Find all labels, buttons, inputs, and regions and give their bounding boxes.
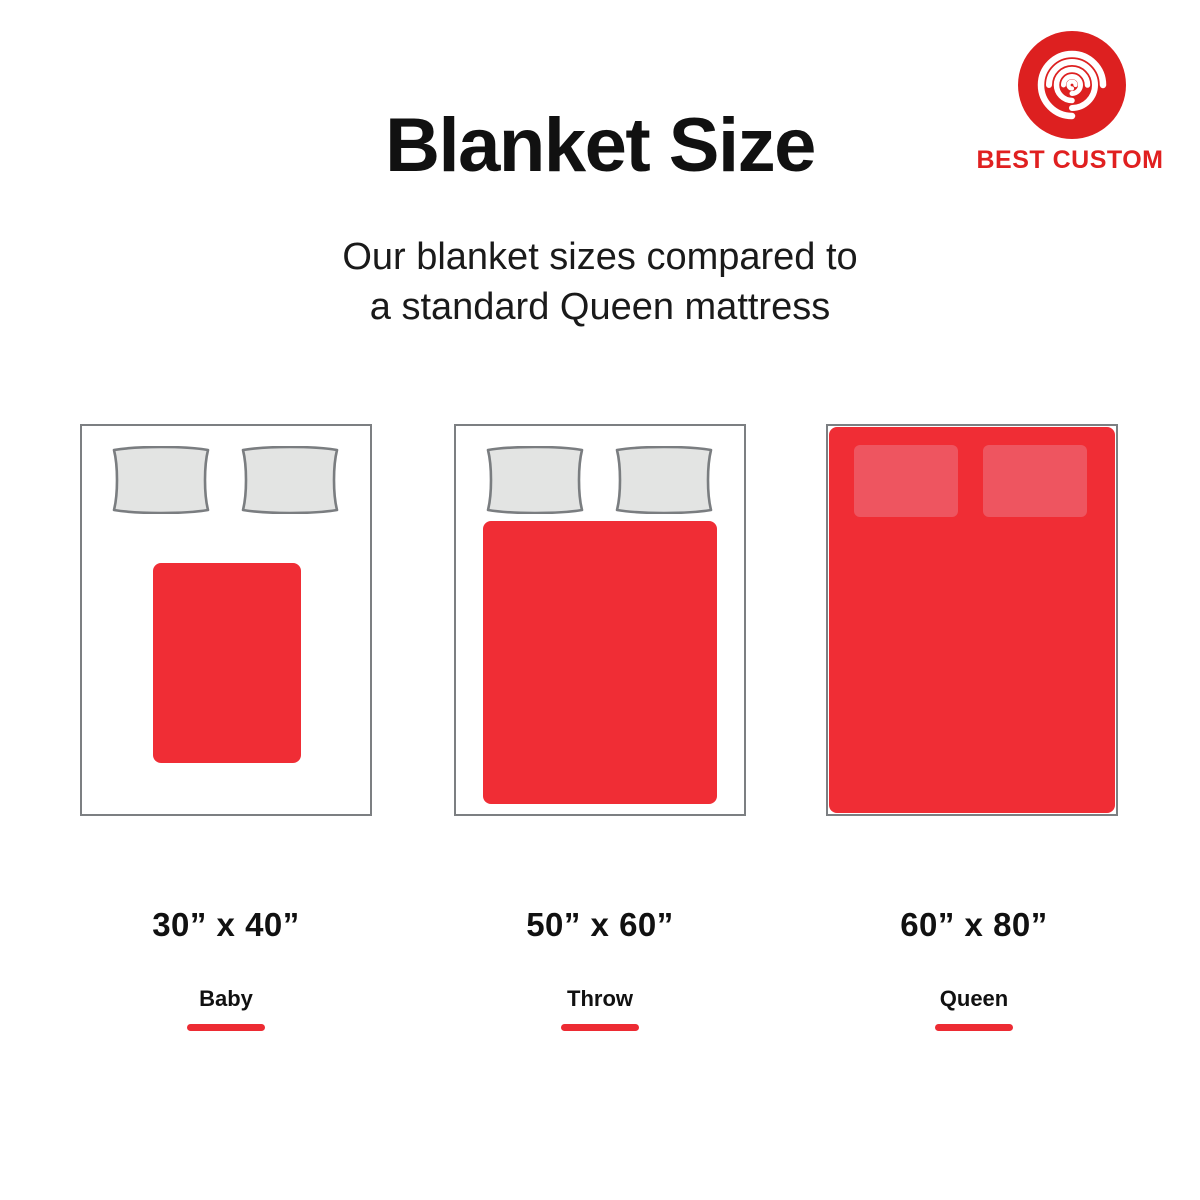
pillow-left bbox=[482, 446, 588, 514]
blanket-queen bbox=[829, 427, 1115, 813]
bed-diagram-baby bbox=[80, 424, 372, 816]
size-dimensions: 50” x 60” bbox=[450, 906, 750, 944]
size-name: Queen bbox=[824, 986, 1124, 1012]
accent-rule bbox=[935, 1024, 1013, 1031]
pillow-left bbox=[108, 446, 214, 514]
pillow-right bbox=[983, 445, 1087, 517]
caption-baby: 30” x 40” Baby bbox=[76, 906, 376, 1031]
pillow-right bbox=[611, 446, 717, 514]
size-dimensions: 30” x 40” bbox=[76, 906, 376, 944]
accent-rule bbox=[561, 1024, 639, 1031]
caption-queen: 60” x 80” Queen bbox=[824, 906, 1124, 1031]
bed-diagram-queen bbox=[826, 424, 1118, 816]
size-name: Throw bbox=[450, 986, 750, 1012]
size-name: Baby bbox=[76, 986, 376, 1012]
blanket-throw bbox=[483, 521, 717, 804]
page-title: Blanket Size bbox=[0, 104, 1200, 188]
pillow-right bbox=[237, 446, 343, 514]
blanket-baby bbox=[153, 563, 301, 763]
size-dimensions: 60” x 80” bbox=[824, 906, 1124, 944]
infographic-canvas: BEST CUSTOM Blanket Size Our blanket siz… bbox=[0, 0, 1200, 1200]
caption-throw: 50” x 60” Throw bbox=[450, 906, 750, 1031]
page-subtitle: Our blanket sizes compared to a standard… bbox=[0, 232, 1200, 332]
subtitle-line-2: a standard Queen mattress bbox=[0, 282, 1200, 332]
pillow-left bbox=[854, 445, 958, 517]
subtitle-line-1: Our blanket sizes compared to bbox=[0, 232, 1200, 282]
accent-rule bbox=[187, 1024, 265, 1031]
bed-diagram-throw bbox=[454, 424, 746, 816]
